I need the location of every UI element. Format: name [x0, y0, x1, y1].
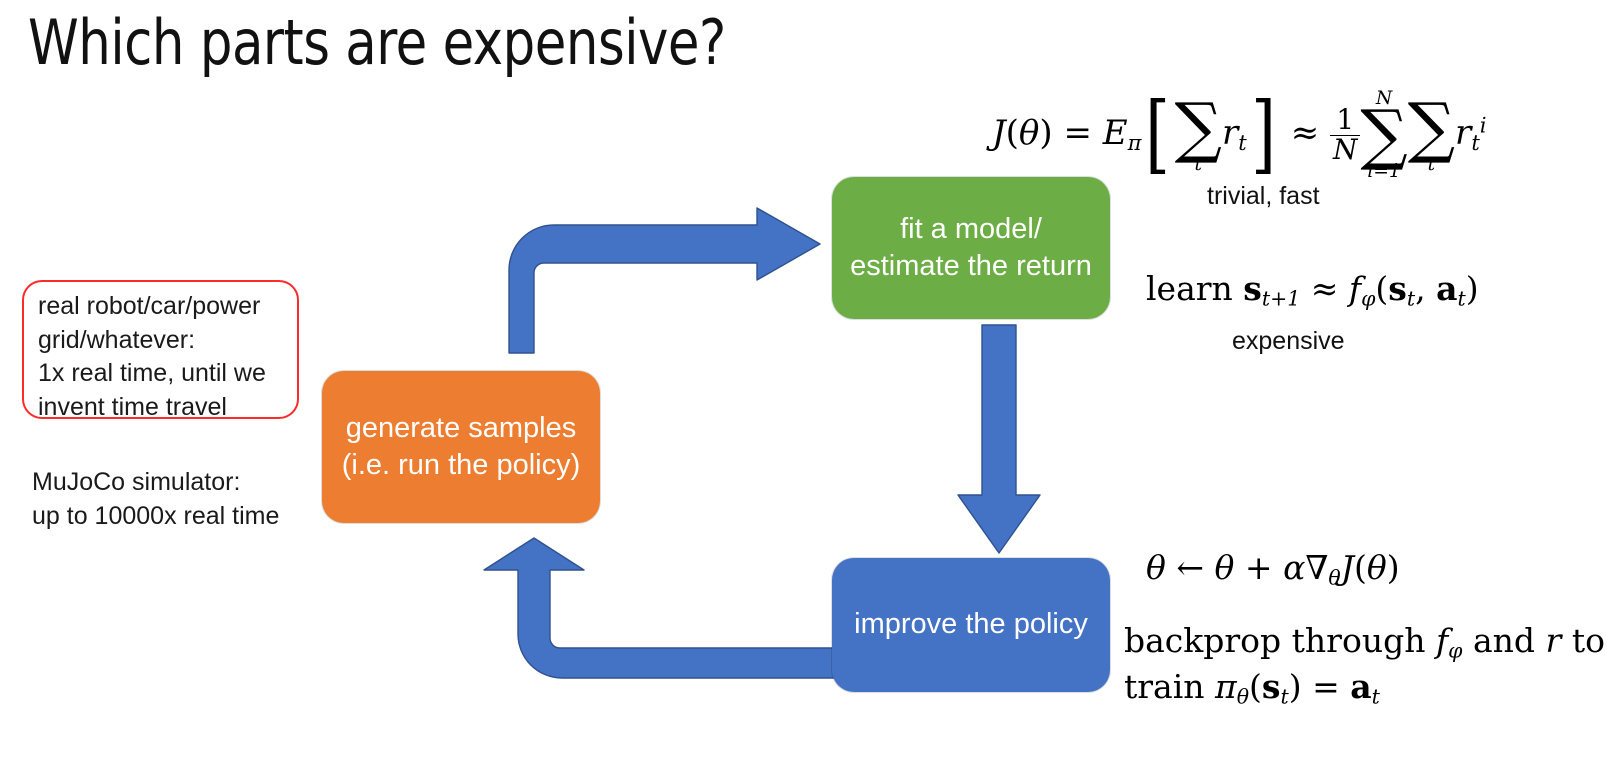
callout-real-robot: real robot/car/power grid/whatever: 1x r…	[22, 280, 299, 419]
eq-sum-glyph: ∑	[1175, 97, 1222, 158]
eq-J: J	[992, 113, 1006, 153]
eq-bp-pi-sub: θ	[1237, 684, 1249, 708]
eq-bp-to: to	[1572, 621, 1605, 660]
eq-bp-train: train	[1124, 667, 1205, 706]
arrow-improve-to-generate	[478, 540, 840, 682]
eq-bp-pi: π	[1215, 667, 1237, 706]
flow-box-generate-samples[interactable]: generate samples (i.e. run the policy)	[322, 371, 600, 523]
eq-s-sub-2: t	[1407, 287, 1415, 311]
eq-E: E	[1103, 113, 1128, 153]
eq-bp-s: s	[1262, 667, 1281, 706]
eq-theta: θ	[1019, 113, 1039, 153]
eq-pg-nabla: ∇	[1305, 548, 1328, 587]
eq-a-sub: t	[1457, 287, 1465, 311]
flow-box-fit-model[interactable]: fit a model/ estimate the return	[832, 177, 1110, 319]
callout-real-robot-line-1: real robot/car/power	[38, 290, 285, 324]
eq-r-sup: i	[1480, 113, 1487, 138]
bracket-open-icon: [	[1146, 102, 1171, 168]
eq-sum-glyph-3: ∑	[1408, 97, 1455, 158]
eq-s-vec: s	[1243, 269, 1262, 308]
callout-real-robot-line-4: invent time travel	[38, 391, 285, 425]
annotation-trivial-fast: trivial, fast	[1207, 182, 1320, 211]
eq-pi: π	[1128, 130, 1142, 155]
eq-f: f	[1349, 269, 1361, 308]
equation-backprop: backprop through fφ and r totrain πθ(st)…	[1124, 619, 1624, 710]
flow-box-generate-samples-line2: (i.e. run the policy)	[342, 447, 581, 484]
flow-box-improve-policy-label: improve the policy	[854, 606, 1088, 643]
eq-bp-f: f	[1436, 621, 1448, 660]
eq-fraction-one-over-N: 1N	[1330, 106, 1360, 164]
eq-sum-t-2: ∑t	[1408, 97, 1455, 173]
eq-pg-nabla-sub: θ	[1328, 566, 1340, 590]
eq-pg-plus: +	[1245, 548, 1273, 587]
eq-pg-theta-3: θ	[1367, 548, 1387, 587]
callout-real-robot-line-2: grid/whatever:	[38, 324, 285, 358]
flow-box-improve-policy-line1: improve the policy	[854, 608, 1088, 640]
eq-pg-theta: θ	[1146, 548, 1166, 587]
arrow-fit-to-improve	[958, 325, 1044, 555]
eq-s-sub: t+1	[1262, 287, 1300, 311]
slide-canvas: Which parts are expensive? J(θ) = Eπ[∑tr…	[0, 0, 1624, 777]
note-mujoco-line-2: up to 10000x real time	[32, 500, 279, 534]
eq-bp-s-sub: t	[1281, 684, 1289, 708]
arrow-generate-to-fit	[500, 208, 830, 353]
flow-box-improve-policy[interactable]: improve the policy	[832, 558, 1110, 692]
eq-pg-arrow: ←	[1176, 548, 1204, 587]
flow-box-fit-model-label: fit a model/ estimate the return	[850, 211, 1092, 285]
eq-learn-word: learn	[1146, 269, 1233, 308]
eq-learn-approx: ≈	[1311, 269, 1339, 308]
eq-approx: ≈	[1291, 113, 1320, 153]
eq-bp-f-sub: φ	[1448, 639, 1462, 663]
eq-bp-a: a	[1350, 667, 1371, 706]
eq-sum-t: ∑t	[1175, 97, 1222, 173]
note-mujoco: MuJoCo simulator: up to 10000x real time	[32, 466, 279, 533]
eq-bp-and: and	[1473, 621, 1535, 660]
flow-box-fit-model-line2: estimate the return	[850, 248, 1092, 285]
bracket-close-icon: ]	[1251, 102, 1276, 168]
arrow-improve-to-generate-shape	[484, 538, 840, 678]
flow-box-fit-model-line1: fit a model/	[900, 213, 1042, 245]
callout-real-robot-line-3: 1x real time, until we	[38, 357, 285, 391]
eq-bp-words: backprop through	[1124, 621, 1425, 660]
eq-r: r	[1222, 113, 1238, 153]
eq-sum-lower: t	[1195, 156, 1203, 173]
eq-sum-i: N∑i=1	[1360, 90, 1407, 180]
note-mujoco-line-1: MuJoCo simulator:	[32, 466, 279, 500]
eq-r-sub-2: t	[1471, 130, 1479, 155]
flow-box-generate-samples-line1: generate samples	[346, 412, 577, 444]
eq-a-vec: a	[1436, 269, 1457, 308]
eq-f-sub-phi: φ	[1361, 287, 1375, 311]
eq-r-sub: t	[1238, 130, 1246, 155]
eq-pg-J: J	[1341, 548, 1354, 587]
eq-bp-eq: =	[1312, 667, 1340, 706]
eq-bp-a-sub: t	[1372, 684, 1380, 708]
eq-sum-lower-3: t	[1428, 156, 1436, 173]
eq-r-2: r	[1455, 113, 1471, 153]
arrow-fit-to-improve-shape	[958, 325, 1040, 553]
eq-pg-theta-2: θ	[1215, 548, 1235, 587]
equation-learn-dynamics: learn st+1 ≈ fφ(st, at)	[1146, 272, 1479, 309]
annotation-expensive: expensive	[1232, 327, 1345, 356]
eq-sum-glyph-2: ∑	[1360, 104, 1407, 165]
eq-bp-r: r	[1546, 621, 1562, 660]
eq-frac-den: N	[1330, 135, 1360, 164]
arrow-generate-to-fit-shape	[509, 208, 820, 353]
eq-sum-lower-2: i=1	[1367, 163, 1401, 180]
equation-objective: J(θ) = Eπ[∑trt] ≈ 1NN∑i=1∑trti	[992, 90, 1487, 180]
equation-policy-gradient: θ ← θ + α∇θJ(θ)	[1146, 551, 1400, 588]
eq-s-vec-2: s	[1388, 269, 1407, 308]
flow-box-generate-samples-label: generate samples (i.e. run the policy)	[342, 410, 581, 484]
eq-frac-num: 1	[1333, 106, 1357, 134]
eq-pg-alpha: α	[1283, 548, 1305, 587]
page-title: Which parts are expensive?	[28, 6, 726, 79]
